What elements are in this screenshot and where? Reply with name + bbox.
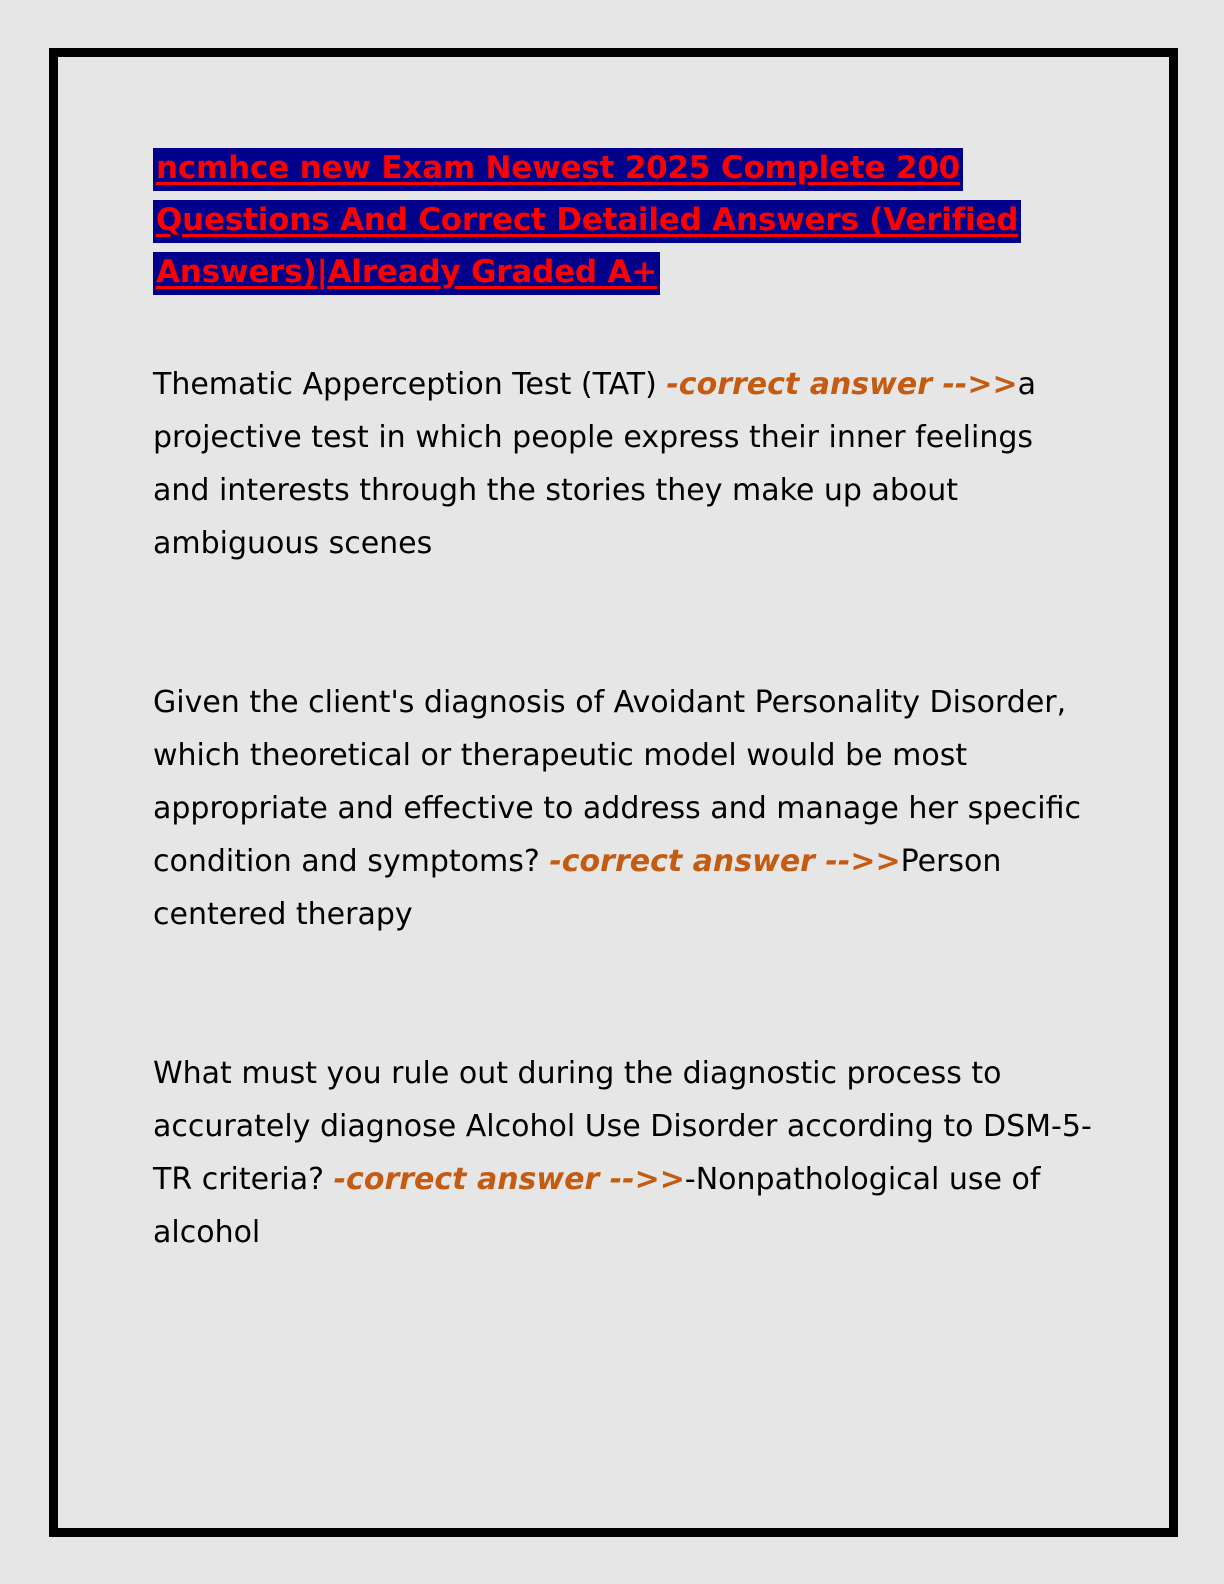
paragraph-gap-1	[153, 570, 1093, 623]
qa-entry-1-question: Thematic Apperception Test (TAT)	[153, 367, 666, 402]
document-title: ncmhce new Exam Newest 2025 Complete 200…	[153, 142, 1093, 298]
title-body-gap	[153, 298, 1093, 358]
paragraph-gap-2b	[153, 994, 1093, 1047]
qa-entry-1: Thematic Apperception Test (TAT) -correc…	[153, 358, 1093, 570]
document-content: ncmhce new Exam Newest 2025 Complete 200…	[153, 142, 1093, 1259]
qa-entry-1-answer-marker: -correct answer -->>	[666, 367, 1017, 402]
document-title-line-3: Answers)|Already Graded A+	[153, 246, 1093, 298]
paragraph-gap-2	[153, 941, 1093, 994]
document-title-line-2: Questions And Correct Detailed Answers (…	[153, 194, 1093, 246]
qa-entry-3-answer-marker: -correct answer -->>	[334, 1162, 685, 1197]
document-page-frame: ncmhce new Exam Newest 2025 Complete 200…	[49, 48, 1178, 1537]
paragraph-gap-1b	[153, 623, 1093, 676]
document-title-line-1: ncmhce new Exam Newest 2025 Complete 200	[153, 142, 1093, 194]
qa-entry-2-answer-marker: -correct answer -->>	[549, 844, 900, 879]
qa-entry-2: Given the client's diagnosis of Avoidant…	[153, 676, 1093, 941]
qa-entry-3: What must you rule out during the diagno…	[153, 1047, 1093, 1259]
